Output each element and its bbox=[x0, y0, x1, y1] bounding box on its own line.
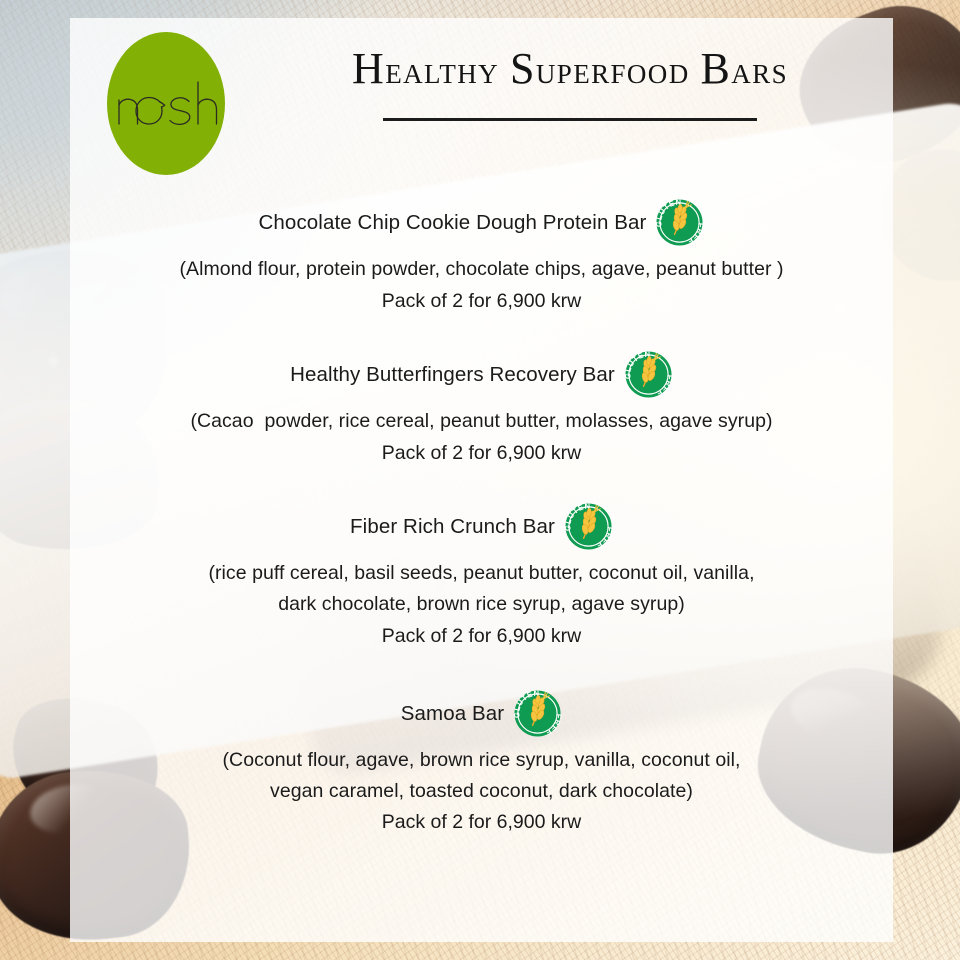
product-ingredients-line: (Almond flour, protein powder, chocolate… bbox=[130, 254, 833, 285]
product-ingredients-line: (rice puff cereal, basil seeds, peanut b… bbox=[130, 558, 833, 589]
product-ingredients-line: dark chocolate, brown rice syrup, agave … bbox=[130, 589, 833, 620]
card-header: Healthy Superfood Bars bbox=[70, 18, 893, 170]
product-ingredients-line: (Cacao powder, rice cereal, peanut butte… bbox=[130, 406, 833, 437]
gluten-free-badge-icon: GLUTEN FREE bbox=[655, 198, 704, 247]
product-name-row: Healthy Butterfingers Recovery Bar GLUTE… bbox=[130, 350, 833, 399]
menu-card: Healthy Superfood Bars Chocolate Chip Co… bbox=[70, 18, 893, 942]
title-block: Healthy Superfood Bars bbox=[270, 46, 870, 121]
product-name: Samoa Bar bbox=[401, 702, 504, 726]
product-price: Pack of 2 for 6,900 krw bbox=[130, 621, 833, 652]
brand-logo bbox=[107, 32, 225, 175]
gluten-free-badge-icon: GLUTEN FREE bbox=[624, 350, 673, 399]
product-item: Samoa Bar GLUTEN FREE bbox=[130, 689, 833, 838]
product-name-row: Samoa Bar GLUTEN FREE bbox=[130, 689, 833, 738]
product-name-row: Chocolate Chip Cookie Dough Protein Bar … bbox=[130, 198, 833, 247]
gluten-free-badge-icon: GLUTEN FREE bbox=[513, 689, 562, 738]
product-name: Chocolate Chip Cookie Dough Protein Bar bbox=[259, 211, 647, 235]
product-list: Chocolate Chip Cookie Dough Protein Bar … bbox=[70, 170, 893, 838]
product-price: Pack of 2 for 6,900 krw bbox=[130, 286, 833, 317]
nosh-bitten-o-logo bbox=[114, 78, 218, 130]
gluten-free-badge-icon: GLUTEN FREE bbox=[564, 502, 613, 551]
page-title: Healthy Superfood Bars bbox=[270, 46, 870, 92]
product-name: Healthy Butterfingers Recovery Bar bbox=[290, 363, 615, 387]
product-item: Chocolate Chip Cookie Dough Protein Bar … bbox=[130, 198, 833, 316]
product-item: Healthy Butterfingers Recovery Bar GLUTE… bbox=[130, 350, 833, 468]
product-price: Pack of 2 for 6,900 krw bbox=[130, 807, 833, 838]
product-name-row: Fiber Rich Crunch Bar GLUTEN FREE bbox=[130, 502, 833, 551]
product-ingredients-line: vegan caramel, toasted coconut, dark cho… bbox=[130, 776, 833, 807]
title-divider bbox=[383, 118, 757, 121]
product-price: Pack of 2 for 6,900 krw bbox=[130, 438, 833, 469]
product-ingredients-line: (Coconut flour, agave, brown rice syrup,… bbox=[130, 745, 833, 776]
product-item: Fiber Rich Crunch Bar GLUTEN FREE bbox=[130, 502, 833, 651]
poster-canvas: Healthy Superfood Bars Chocolate Chip Co… bbox=[0, 0, 960, 960]
product-name: Fiber Rich Crunch Bar bbox=[350, 515, 555, 539]
